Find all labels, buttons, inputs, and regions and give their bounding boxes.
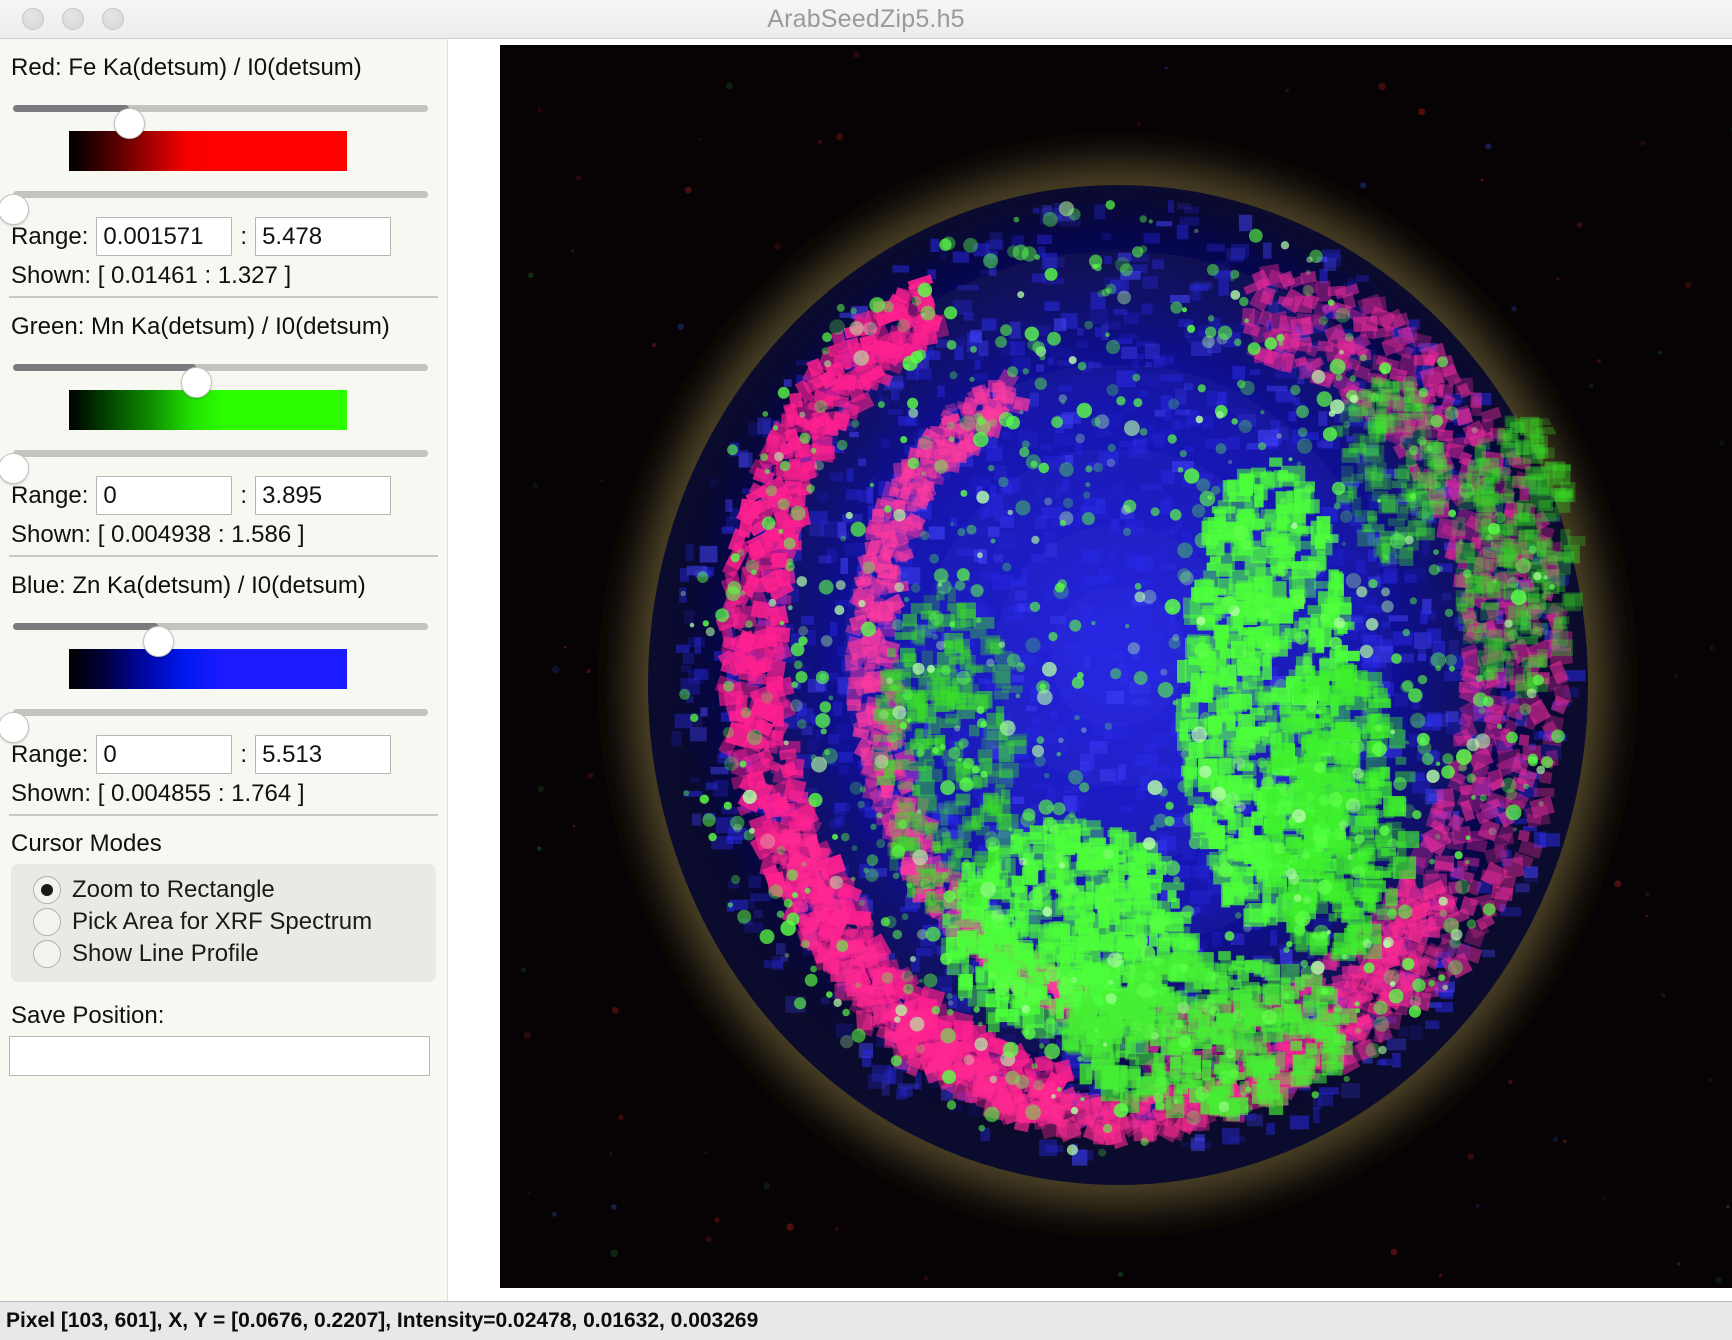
status-bar: Pixel [103, 601], X, Y = [0.0676, 0.2207… [0, 1301, 1732, 1340]
cursor-modes-group: Zoom to Rectangle Pick Area for XRF Spec… [11, 864, 436, 982]
application-window: ArabSeedZip5.h5 Red: Fe Ka(detsum) / I0(… [0, 0, 1732, 1340]
channel-blue-label: Blue: Zn Ka(detsum) / I0(detsum) [9, 566, 438, 604]
xrf-image-canvas [500, 45, 1732, 1288]
slider-thumb[interactable] [181, 367, 212, 398]
range-separator: : [240, 741, 247, 769]
slider-track[interactable] [13, 105, 428, 112]
cursor-mode-pick-area-xrf[interactable]: Pick Area for XRF Spectrum [11, 906, 436, 938]
slider-track[interactable] [13, 709, 428, 716]
slider-track-fill [13, 364, 196, 371]
slider-track[interactable] [13, 191, 428, 198]
range-separator: : [240, 223, 247, 251]
channel-red-range-row: Range: : [9, 214, 438, 256]
slider-thumb[interactable] [114, 108, 145, 139]
channel-blue-shown-text: Shown: [ 0.004855 : 1.764 ] [9, 774, 438, 810]
channel-blue-upper-slider[interactable] [9, 608, 438, 644]
channel-blue-lower-slider[interactable] [9, 694, 438, 730]
radio-on-icon[interactable] [33, 876, 61, 904]
channel-green: Green: Mn Ka(detsum) / I0(detsum) Range:… [9, 298, 438, 557]
channel-blue: Blue: Zn Ka(detsum) / I0(detsum) Range: … [9, 557, 438, 816]
channel-red-upper-slider[interactable] [9, 90, 438, 126]
range-separator: : [240, 482, 247, 510]
save-position-label: Save Position: [9, 982, 438, 1036]
channel-red-range-min-input[interactable] [96, 217, 232, 256]
channel-green-lower-slider[interactable] [9, 435, 438, 471]
window-titlebar: ArabSeedZip5.h5 [0, 0, 1732, 39]
channel-green-label: Green: Mn Ka(detsum) / I0(detsum) [9, 307, 438, 345]
slider-thumb[interactable] [143, 626, 174, 657]
channel-red-range-max-input[interactable] [255, 217, 391, 256]
status-bar-text: Pixel [103, 601], X, Y = [0.0676, 0.2207… [0, 1309, 758, 1333]
slider-track[interactable] [13, 450, 428, 457]
channel-green-range-min-input[interactable] [96, 476, 232, 515]
xrf-rgb-composite-image[interactable] [500, 45, 1732, 1288]
cursor-mode-label: Pick Area for XRF Spectrum [72, 908, 372, 936]
save-position-input[interactable] [9, 1036, 430, 1076]
cursor-mode-label: Show Line Profile [72, 940, 259, 968]
window-title: ArabSeedZip5.h5 [0, 5, 1732, 34]
channel-red-label: Red: Fe Ka(detsum) / I0(detsum) [9, 48, 438, 86]
channel-blue-range-max-input[interactable] [255, 735, 391, 774]
radio-off-icon[interactable] [33, 940, 61, 968]
slider-track-fill [13, 105, 129, 112]
channel-red-lower-slider[interactable] [9, 176, 438, 212]
channel-blue-range-min-input[interactable] [96, 735, 232, 774]
channel-blue-range-row: Range: : [9, 732, 438, 774]
controls-panel: Red: Fe Ka(detsum) / I0(detsum) Range: : [0, 39, 448, 1301]
slider-track[interactable] [13, 623, 428, 630]
slider-track[interactable] [13, 364, 428, 371]
range-label: Range: [11, 223, 88, 251]
channel-green-range-max-input[interactable] [255, 476, 391, 515]
image-panel [449, 39, 1732, 1301]
cursor-mode-show-line-profile[interactable]: Show Line Profile [11, 938, 436, 970]
channel-green-colorbar [69, 390, 347, 430]
channel-green-range-row: Range: : [9, 473, 438, 515]
cursor-mode-zoom-to-rectangle[interactable]: Zoom to Rectangle [11, 874, 436, 906]
range-label: Range: [11, 482, 88, 510]
channel-green-shown-text: Shown: [ 0.004938 : 1.586 ] [9, 515, 438, 551]
channel-red-shown-text: Shown: [ 0.01461 : 1.327 ] [9, 256, 438, 292]
cursor-modes-title: Cursor Modes [9, 816, 438, 864]
channel-green-upper-slider[interactable] [9, 349, 438, 385]
range-label: Range: [11, 741, 88, 769]
radio-off-icon[interactable] [33, 908, 61, 936]
channel-red-colorbar [69, 131, 347, 171]
cursor-mode-label: Zoom to Rectangle [72, 876, 275, 904]
channel-red: Red: Fe Ka(detsum) / I0(detsum) Range: : [9, 39, 438, 298]
channel-blue-colorbar [69, 649, 347, 689]
slider-track-fill [13, 623, 158, 630]
